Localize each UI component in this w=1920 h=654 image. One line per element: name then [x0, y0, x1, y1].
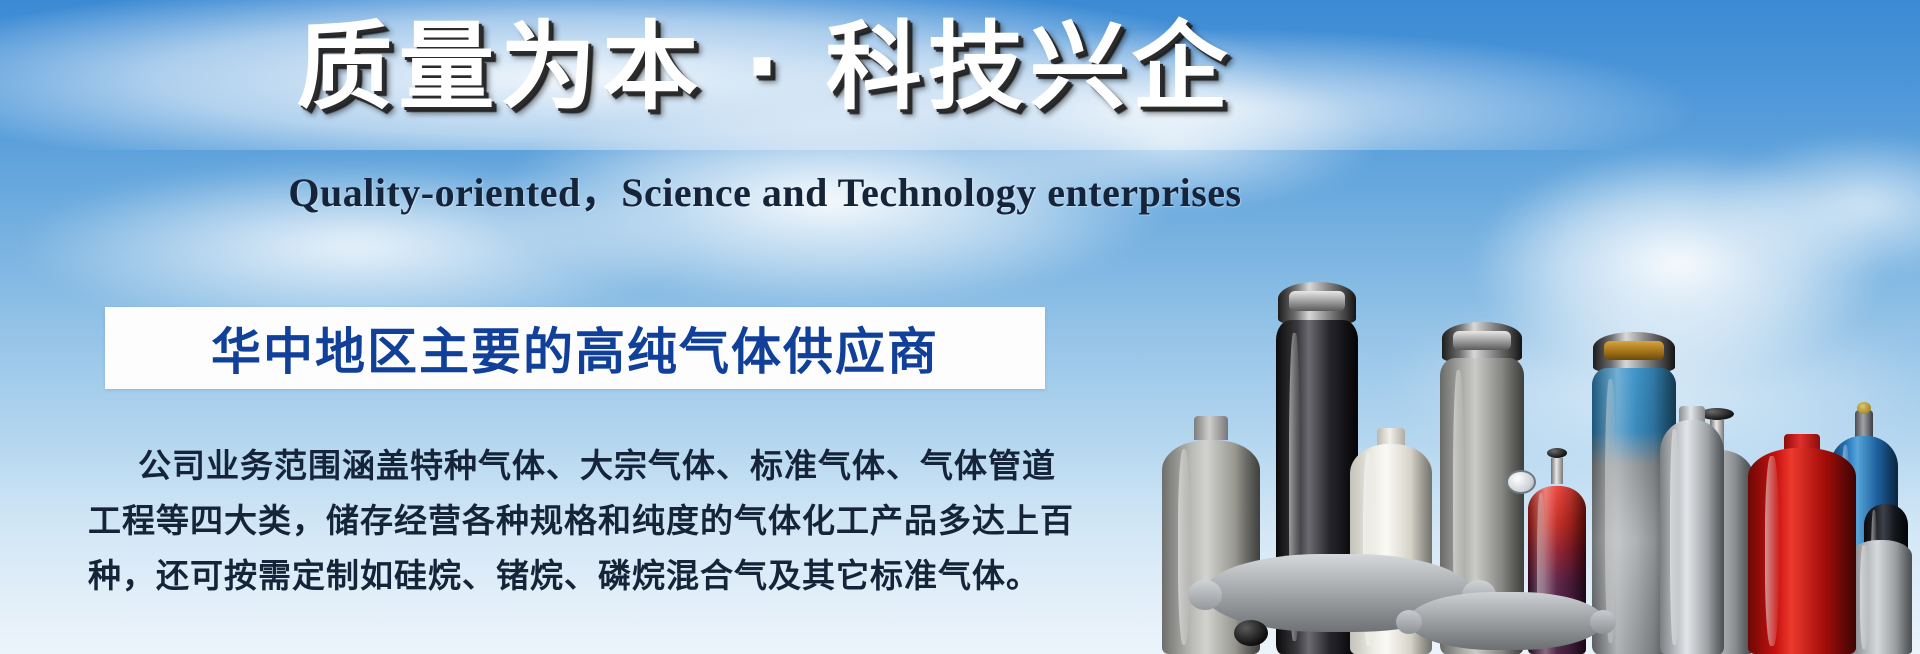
hero-banner: 质量为本 · 科技兴企 Quality-oriented，Science and…: [0, 0, 1920, 654]
banner-headline: 质量为本 · 科技兴企: [0, 14, 1530, 122]
banner-description: 公司业务范围涵盖特种气体、大宗气体、标准气体、气体管道 工程等四大类，储存经营各…: [88, 440, 1078, 605]
slogan-text: 华中地区主要的高纯气体供应商: [211, 312, 939, 384]
pressure-gauge-icon: [1506, 470, 1536, 494]
cylinder-lying-small: [1396, 592, 1616, 650]
slogan-highlight-box: 华中地区主要的高纯气体供应商: [105, 307, 1045, 389]
description-line-1: 公司业务范围涵盖特种气体、大宗气体、标准气体、气体管道: [88, 440, 1078, 495]
gas-cylinder-group-right: [1640, 320, 1920, 654]
lying-valve-knob: [1234, 620, 1268, 646]
cylinder-red-large: [1748, 444, 1856, 654]
description-line-3: 种，还可按需定制如硅烷、锗烷、磷烷混合气及其它标准气体。: [88, 550, 1078, 605]
description-line-2: 工程等四大类，储存经营各种规格和纯度的气体化工产品多达上百: [88, 495, 1078, 550]
cylinder-aluminium-tall: [1660, 416, 1724, 654]
